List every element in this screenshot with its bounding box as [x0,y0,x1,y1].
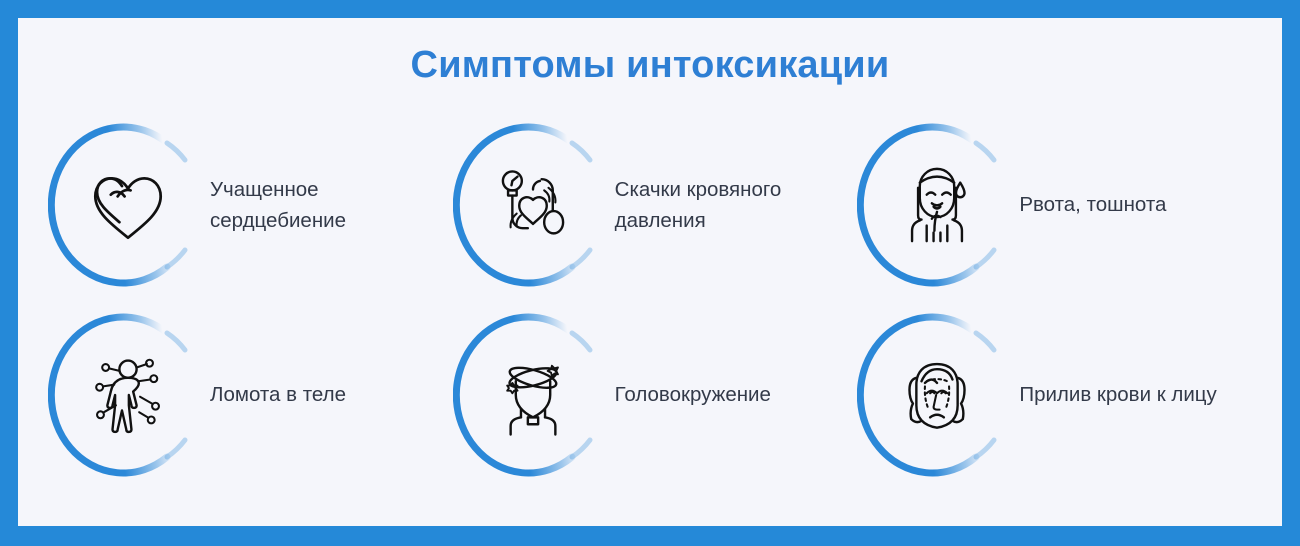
symptom-grid: Учащенное сердцебиение [48,114,1262,486]
symptom-item-dizziness[interactable]: Головокружение [453,304,858,486]
symptom-item-nausea[interactable]: Рвота, тошнота [857,114,1262,296]
infographic-page: Симптомы интоксикации [0,0,1300,546]
icon-badge-facial-flush [857,310,1017,480]
icon-badge-dizziness [453,310,613,480]
page-title: Симптомы интоксикации [18,44,1282,87]
symptom-label: Учащенное сердцебиение [210,174,346,236]
blood-pressure-monitor-icon [490,159,576,251]
icon-badge-nausea [857,120,1017,290]
symptom-item-body-ache[interactable]: Ломота в теле [48,304,453,486]
symptom-label: Прилив крови к лицу [1019,379,1216,410]
symptom-label: Головокружение [615,379,771,410]
content-panel: Симптомы интоксикации [18,18,1282,526]
symptom-label: Рвота, тошнота [1019,189,1166,220]
dizzy-head-icon [490,349,576,441]
icon-badge-blood-pressure [453,120,613,290]
body-pain-points-icon [85,349,171,441]
symptom-item-blood-pressure[interactable]: Скачки кровяного давления [453,114,858,296]
symptom-label: Скачки кровяного давления [615,174,782,236]
icon-badge-heart-rate [48,120,208,290]
symptom-item-facial-flush[interactable]: Прилив крови к лицу [857,304,1262,486]
symptom-item-heart-rate[interactable]: Учащенное сердцебиение [48,114,453,296]
icon-badge-body-ache [48,310,208,480]
flushed-face-icon [894,349,980,441]
symptom-label: Ломота в теле [210,379,346,410]
double-heart-icon [85,159,171,251]
nauseous-person-icon [894,159,980,251]
